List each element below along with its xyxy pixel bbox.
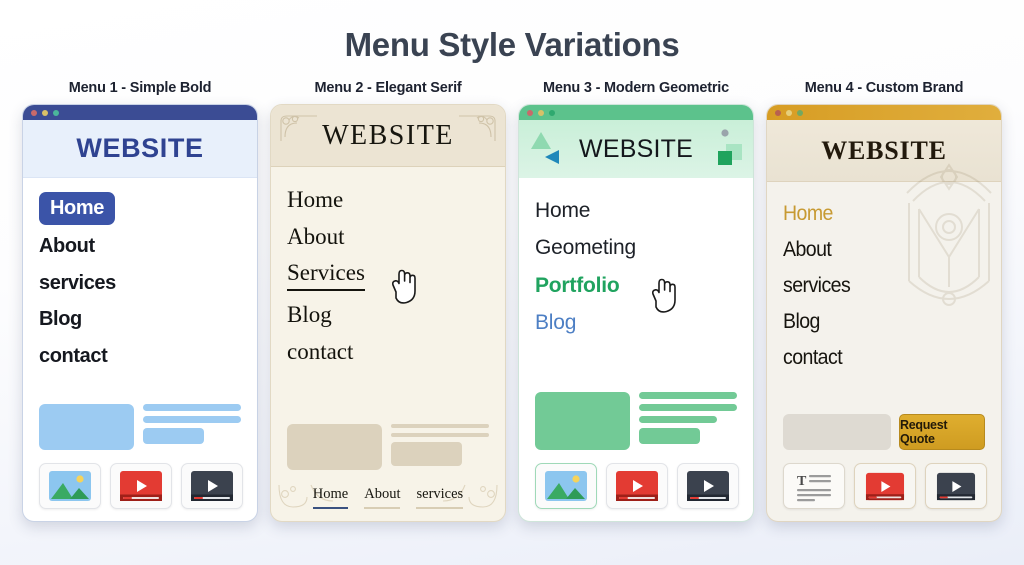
window-minimize-dot[interactable]	[42, 110, 48, 116]
browser-window-4: WEBSITE Home About services Blog contact…	[766, 104, 1002, 522]
browser-window-3: WEBSITE Home Geometing Portfolio Blog	[518, 104, 754, 522]
content-placeholder-2	[287, 424, 489, 470]
menu-card-3: Menu 3 - Modern Geometric WEBSITE	[518, 80, 754, 522]
ornament-top-right-icon	[453, 111, 499, 145]
nav-list-3: Home Geometing Portfolio Blog	[535, 192, 737, 342]
image-thumbnail[interactable]	[535, 463, 597, 509]
nav-item-blog[interactable]: Blog	[39, 302, 241, 338]
image-placeholder-block	[287, 424, 382, 470]
nav-item-blog[interactable]: Blog	[535, 304, 737, 341]
window-titlebar-4	[767, 105, 1001, 120]
window-maximize-dot[interactable]	[797, 110, 803, 116]
placeholder-block	[391, 442, 462, 466]
placeholder-block	[143, 428, 204, 444]
placeholder-line	[143, 404, 241, 411]
window-close-dot[interactable]	[31, 110, 37, 116]
nav-item-blog[interactable]: Blog	[287, 296, 489, 333]
thumbnail-row-3	[535, 463, 737, 509]
dark-video-thumbnail[interactable]	[677, 463, 739, 509]
window-minimize-dot[interactable]	[786, 110, 792, 116]
footer-nav-item-about[interactable]: About	[364, 486, 400, 509]
dark-video-thumbnail[interactable]	[181, 463, 243, 509]
window-minimize-dot[interactable]	[538, 110, 544, 116]
menu-body-1: Home About services Blog contact	[23, 178, 257, 521]
nav-item-home[interactable]: Home	[535, 192, 737, 229]
card-caption-2: Menu 2 - Elegant Serif	[270, 80, 506, 96]
thumbnail-row-1	[39, 463, 241, 509]
thumbnail-row-4: T	[783, 463, 985, 509]
card-caption-3: Menu 3 - Modern Geometric	[518, 80, 754, 96]
nav-item-contact[interactable]: contact	[287, 333, 489, 370]
placeholder-line	[639, 404, 737, 411]
browser-window-2: WEBSITE Home About Services Blog contact	[270, 104, 506, 522]
text-placeholder-lines	[391, 424, 489, 470]
nav-item-portfolio[interactable]: Portfolio	[535, 267, 737, 304]
card-caption-4: Menu 4 - Custom Brand	[766, 80, 1002, 96]
brand-logo-1: WEBSITE	[76, 133, 203, 164]
nav-item-home[interactable]: Home	[783, 196, 971, 232]
red-video-thumbnail[interactable]	[854, 463, 916, 509]
red-video-thumbnail[interactable]	[606, 463, 668, 509]
placeholder-block	[639, 428, 700, 444]
brand-header-3: WEBSITE	[519, 120, 753, 178]
placeholder-line	[639, 416, 717, 423]
nav-item-about[interactable]: About	[39, 229, 241, 265]
cta-row-4: Request Quote	[783, 414, 985, 450]
window-close-dot[interactable]	[527, 110, 533, 116]
image-thumbnail[interactable]	[39, 463, 101, 509]
menu-body-3: Home Geometing Portfolio Blog	[519, 178, 753, 521]
menu-card-2: Menu 2 - Elegant Serif WEBSITE	[270, 80, 506, 522]
nav-item-blog[interactable]: Blog	[783, 304, 971, 340]
nav-item-geometing[interactable]: Geometing	[535, 229, 737, 266]
nav-item-home[interactable]: Home	[287, 181, 489, 218]
nav-list-4: Home About services Blog contact	[783, 196, 985, 377]
placeholder-line	[391, 424, 489, 428]
request-quote-button[interactable]: Request Quote	[899, 414, 985, 450]
nav-item-about[interactable]: About	[783, 232, 971, 268]
content-placeholder-3	[535, 392, 737, 450]
brand-logo-4: WEBSITE	[821, 136, 947, 166]
window-maximize-dot[interactable]	[53, 110, 59, 116]
nav-list-1: Home About services Blog contact	[39, 192, 241, 374]
nav-item-about[interactable]: About	[287, 218, 489, 255]
menu-card-grid: Menu 1 - Simple Bold WEBSITE Home About …	[0, 80, 1024, 522]
nav-item-contact[interactable]: contact	[39, 339, 241, 375]
text-placeholder-lines	[639, 392, 737, 450]
nav-item-services[interactable]: Services	[287, 256, 365, 291]
image-placeholder-block	[39, 404, 134, 450]
content-placeholder-1	[39, 404, 241, 450]
brand-header-4: WEBSITE	[767, 120, 1001, 182]
browser-window-1: WEBSITE Home About services Blog contact	[22, 104, 258, 522]
ornament-top-left-icon	[277, 111, 323, 145]
placeholder-line	[143, 416, 241, 423]
content-placeholder-block	[783, 414, 891, 450]
window-titlebar-1	[23, 105, 257, 120]
nav-item-services[interactable]: services	[39, 266, 241, 302]
window-maximize-dot[interactable]	[549, 110, 555, 116]
placeholder-line	[391, 433, 489, 437]
menu-body-2: Home About Services Blog contact Home	[271, 167, 505, 521]
brand-logo-2: WEBSITE	[322, 120, 454, 152]
window-titlebar-3	[519, 105, 753, 120]
svg-text:T: T	[797, 474, 807, 489]
brand-header-1: WEBSITE	[23, 120, 257, 178]
image-placeholder-block	[535, 392, 630, 450]
page-title: Menu Style Variations	[0, 0, 1024, 64]
nav-item-contact[interactable]: contact	[783, 340, 971, 376]
card-caption-1: Menu 1 - Simple Bold	[22, 80, 258, 96]
footer-nav-item-home[interactable]: Home	[313, 486, 348, 509]
nav-item-home[interactable]: Home	[39, 192, 115, 225]
text-document-thumbnail[interactable]: T	[783, 463, 845, 509]
menu-card-1: Menu 1 - Simple Bold WEBSITE Home About …	[22, 80, 258, 522]
footer-nav-item-services[interactable]: services	[416, 486, 463, 509]
menu-card-4: Menu 4 - Custom Brand	[766, 80, 1002, 522]
placeholder-line	[639, 392, 737, 399]
red-video-thumbnail[interactable]	[110, 463, 172, 509]
nav-item-services[interactable]: services	[783, 268, 971, 304]
window-close-dot[interactable]	[775, 110, 781, 116]
footer-nav-2: Home About services	[287, 486, 489, 509]
brand-logo-3: WEBSITE	[579, 135, 693, 164]
dark-video-thumbnail[interactable]	[925, 463, 987, 509]
text-placeholder-lines	[143, 404, 241, 450]
menu-body-4: Home About services Blog contact Request…	[767, 182, 1001, 521]
nav-list-2: Home About Services Blog contact	[287, 181, 489, 370]
